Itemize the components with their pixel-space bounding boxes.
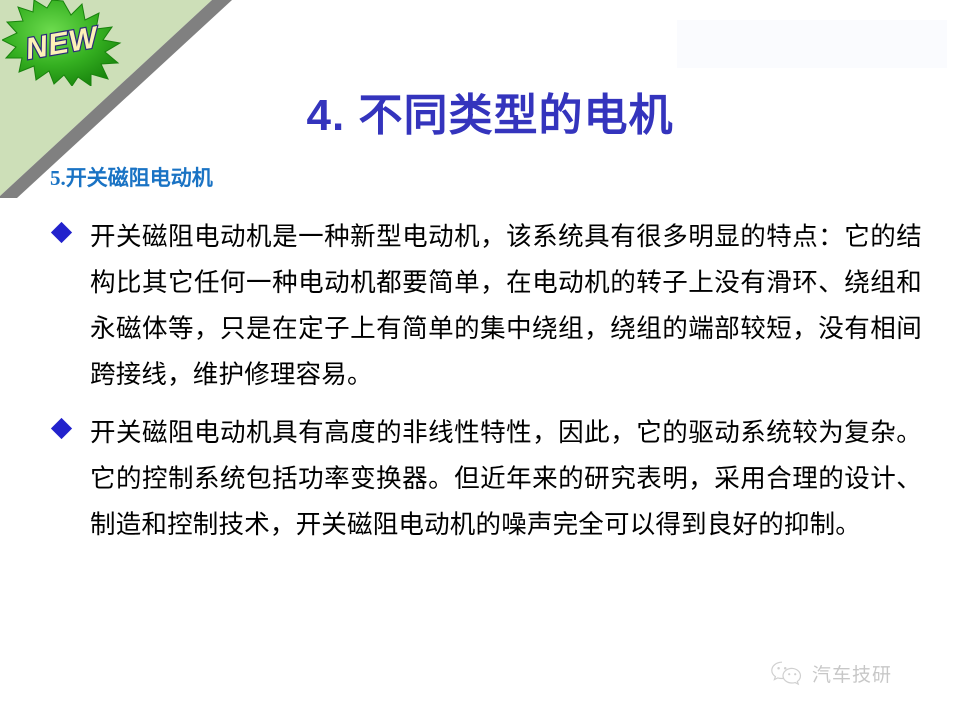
wechat-icon bbox=[770, 660, 804, 687]
bullet-paragraph: 开关磁阻电动机具有高度的非线性特性，因此，它的驱动系统较为复杂。它的控制系统包括… bbox=[90, 410, 922, 548]
page-title: 4. 不同类型的电机 bbox=[0, 92, 960, 140]
diamond-bullet-icon bbox=[51, 418, 72, 439]
bullet-item: 开关磁阻电动机具有高度的非线性特性，因此，它的驱动系统较为复杂。它的控制系统包括… bbox=[50, 410, 922, 548]
section-subheading: 5.开关磁阻电动机 bbox=[50, 162, 213, 192]
new-starburst-badge: NEW bbox=[2, 0, 124, 86]
slide-canvas: NEW 4. 不同类型的电机 5.开关磁阻电动机 开关磁阻电动机是一种新型电动机… bbox=[0, 0, 960, 720]
slide-body: 开关磁阻电动机是一种新型电动机，该系统具有很多明显的特点：它的结构比其它任何一种… bbox=[50, 214, 922, 560]
watermark: 汽车技研 bbox=[770, 660, 892, 687]
faint-placeholder-box bbox=[677, 20, 947, 68]
diamond-bullet-icon bbox=[51, 222, 72, 243]
bullet-item: 开关磁阻电动机是一种新型电动机，该系统具有很多明显的特点：它的结构比其它任何一种… bbox=[50, 214, 922, 398]
bullet-paragraph: 开关磁阻电动机是一种新型电动机，该系统具有很多明显的特点：它的结构比其它任何一种… bbox=[90, 214, 922, 398]
watermark-text: 汽车技研 bbox=[812, 660, 892, 687]
